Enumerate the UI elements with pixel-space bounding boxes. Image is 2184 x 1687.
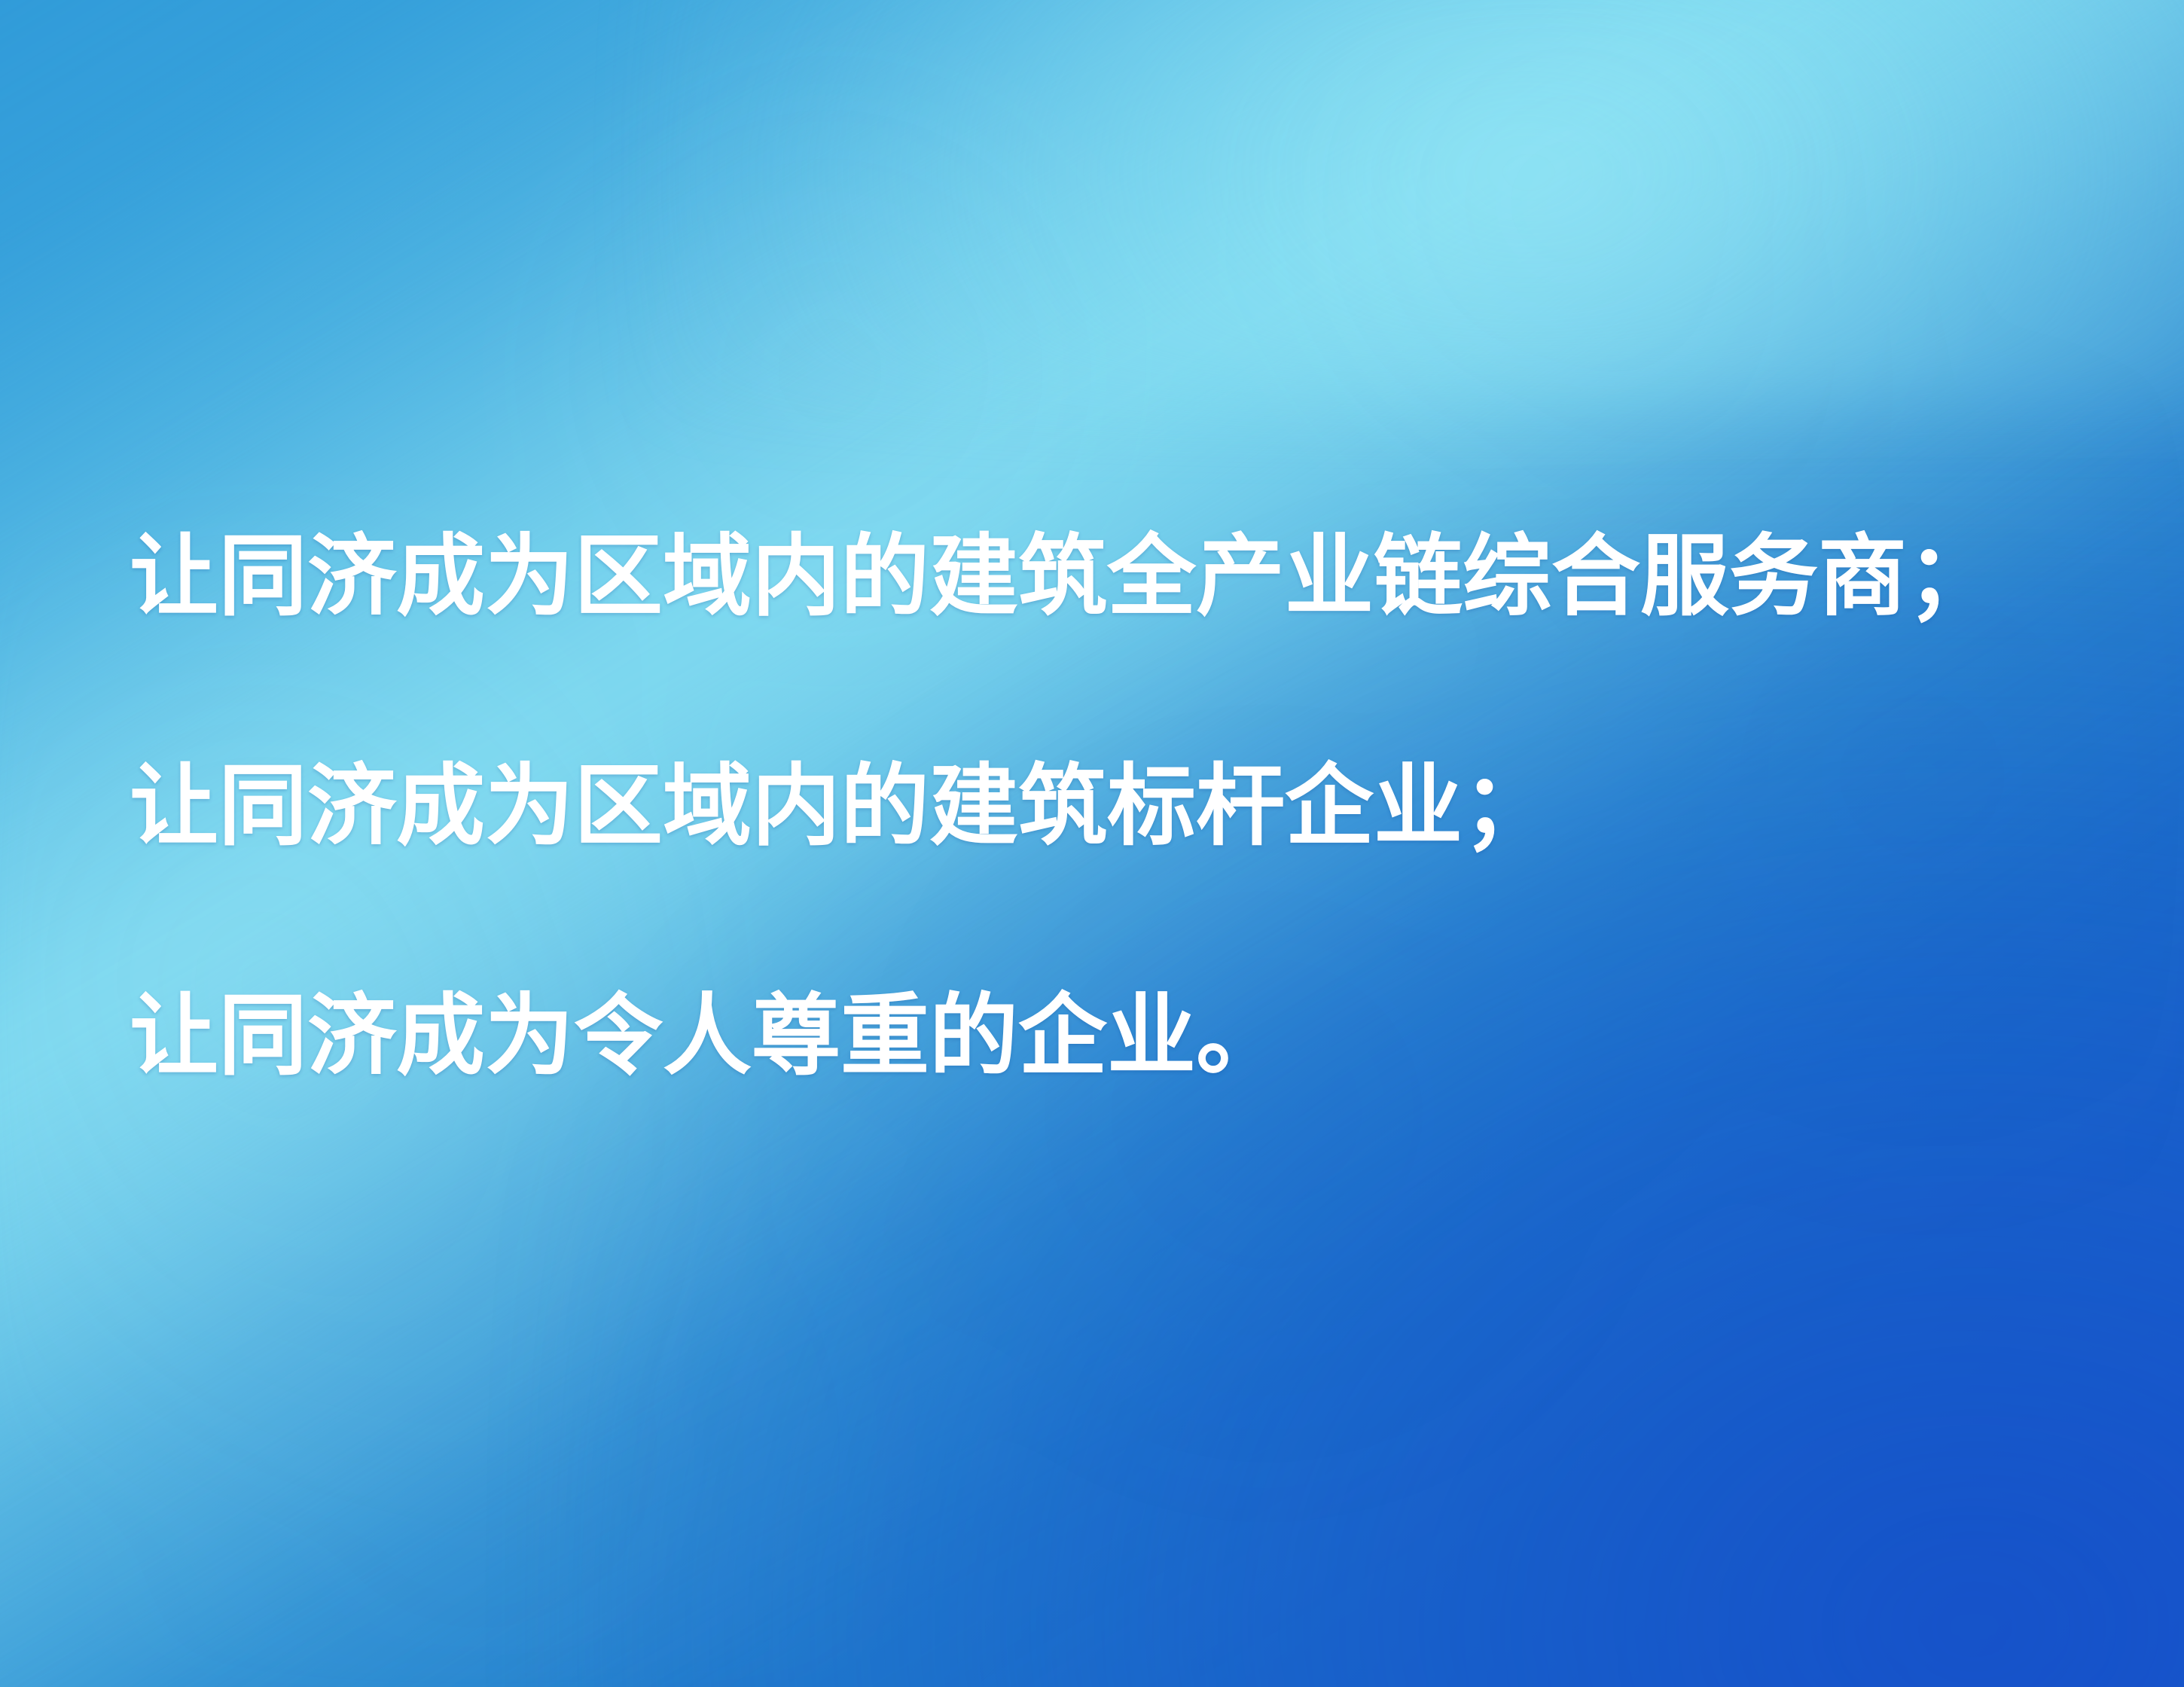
slide-line-1: 让同济成为区域内的建筑全产业链综合服务商； (130, 461, 2057, 691)
presentation-slide: 让同济成为区域内的建筑全产业链综合服务商； 让同济成为区域内的建筑标杆企业； 让… (0, 0, 2184, 1687)
slide-line-3: 让同济成为令人尊重的企业。 (130, 920, 2057, 1150)
background-top-cyan-glow (655, 0, 2184, 405)
slide-line-2: 让同济成为区域内的建筑标杆企业； (130, 691, 2057, 920)
slide-text-block: 让同济成为区域内的建筑全产业链综合服务商； 让同济成为区域内的建筑标杆企业； 让… (130, 461, 2057, 1150)
